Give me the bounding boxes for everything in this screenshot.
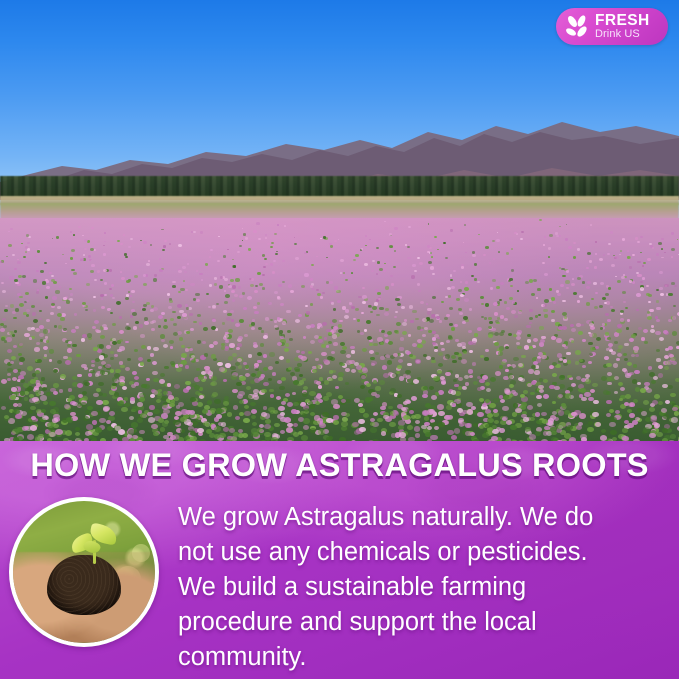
brand-logo[interactable]: FRESH Drink US: [556, 8, 668, 45]
page-title: HOW WE GROW ASTRAGALUS ROOTS: [0, 447, 679, 484]
flower-texture: [0, 218, 679, 441]
seedling-photo: [13, 501, 155, 643]
flower-petals-icon: [562, 12, 592, 42]
body-line: not use any chemicals or pesticides.: [178, 535, 670, 570]
brand-logo-text: FRESH Drink US: [595, 13, 650, 41]
hero-photo: FRESH Drink US: [0, 0, 679, 441]
brand-name-primary: FRESH: [595, 13, 650, 29]
flower-field: [0, 218, 679, 441]
brand-name-secondary: Drink US: [595, 29, 650, 40]
body-line: We build a sustainable farming: [178, 570, 670, 605]
tree-line: [0, 176, 679, 198]
seedling-sprout: [70, 521, 118, 566]
body-line: community.: [178, 640, 670, 675]
product-infographic: FRESH Drink US HOW WE GROW ASTRAGALUS RO…: [0, 0, 679, 679]
body-line: We grow Astragalus naturally. We do: [178, 500, 670, 535]
seedling-circle-image: [9, 497, 159, 647]
body-copy: We grow Astragalus naturally. We do not …: [178, 500, 670, 675]
body-line: procedure and support the local: [178, 605, 670, 640]
